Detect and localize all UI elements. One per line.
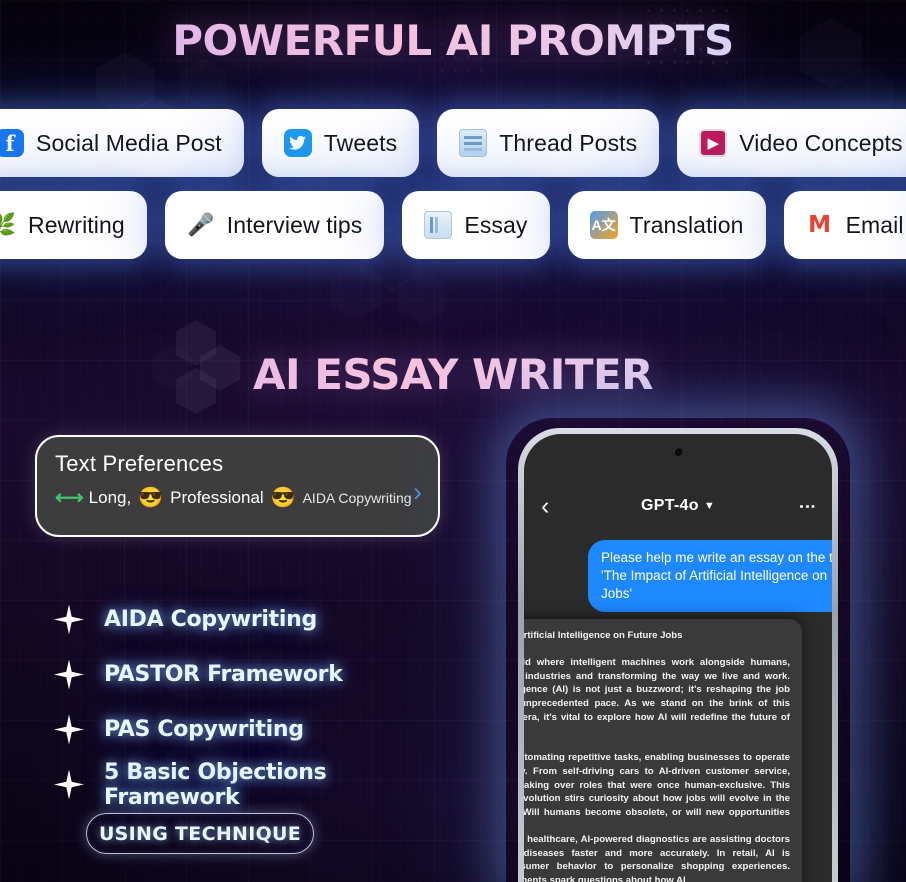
- sparkle-icon: [54, 770, 84, 800]
- chip-interview-tips[interactable]: 🎤 Interview tips: [165, 191, 385, 259]
- answer-paragraph-examples: For instance, in healthcare, AI-powered …: [524, 833, 790, 882]
- chip-thread-posts[interactable]: Thread Posts: [437, 109, 659, 177]
- sunglasses-smiley-icon: 😎: [138, 488, 163, 508]
- chip-label: Interview tips: [227, 212, 363, 239]
- chip-label: Email: [846, 212, 904, 239]
- chip-email[interactable]: M Email: [784, 191, 906, 259]
- preference-framework: AIDA Copywriting: [303, 490, 412, 506]
- gmail-icon: M: [806, 211, 834, 239]
- framework-feature-list: AIDA Copywriting PASTOR Framework PAS Co…: [54, 592, 454, 812]
- answer-section-interest: I: Interest: [524, 738, 790, 752]
- sparkle-icon: [54, 605, 84, 635]
- sparkle-icon: [54, 715, 84, 745]
- feature-label: PASTOR Framework: [104, 662, 343, 687]
- phone-mockup: ‹ GPT-4o▼ ⋮ Please help me write an essa…: [518, 428, 838, 882]
- page-title-middle: AI ESSAY WRITER: [0, 350, 906, 399]
- using-technique-button[interactable]: USING TECHNIQUE: [86, 813, 314, 854]
- chip-label: Translation: [630, 212, 744, 239]
- chip-essay[interactable]: Essay: [402, 191, 549, 259]
- chip-label: Tweets: [324, 130, 397, 157]
- twitter-bird-icon: [284, 129, 312, 157]
- chip-label: Social Media Post: [36, 130, 222, 157]
- prompt-category-row-1: f Social Media Post Tweets Thread Posts …: [0, 107, 906, 179]
- prompt-category-row-2: 🌿 Rewriting 🎤 Interview tips Essay A文 Tr…: [0, 189, 906, 261]
- sparkle-icon: [54, 660, 84, 690]
- chip-rewriting[interactable]: 🌿 Rewriting: [0, 191, 147, 259]
- text-preferences-title: Text Preferences: [55, 451, 420, 477]
- list-item[interactable]: 5 Basic Objections Framework: [54, 757, 454, 812]
- chip-tweets[interactable]: Tweets: [262, 109, 419, 177]
- rewrite-pen-icon: 🌿: [0, 211, 16, 239]
- chat-app-bar: ‹ GPT-4o▼ ⋮: [524, 491, 832, 521]
- text-preferences-card[interactable]: Text Preferences ⟷ Long, 😎 Professional …: [35, 435, 440, 537]
- chevron-down-icon: ▼: [704, 500, 715, 512]
- model-selector[interactable]: GPT-4o▼: [524, 497, 832, 515]
- chip-translation[interactable]: A文 Translation: [568, 191, 766, 259]
- page-title-top: POWERFUL AI PROMPTS: [0, 16, 906, 65]
- feature-label: 5 Basic Objections Framework: [104, 760, 454, 810]
- answer-title: The Impact of Artificial Intelligence on…: [524, 629, 790, 643]
- answer-paragraph-attention: Imagine a world where intelligent machin…: [524, 656, 790, 738]
- list-item[interactable]: AIDA Copywriting: [54, 592, 454, 647]
- sunglasses-smiley-icon-2: 😎: [271, 488, 296, 508]
- list-item[interactable]: PAS Copywriting: [54, 702, 454, 757]
- chip-video-concepts[interactable]: ▶ Video Concepts: [677, 109, 906, 177]
- thread-list-icon: [459, 129, 487, 157]
- essay-book-icon: [424, 211, 452, 239]
- feature-label: PAS Copywriting: [104, 717, 304, 742]
- chevron-right-icon[interactable]: ›: [413, 479, 422, 506]
- feature-label: AIDA Copywriting: [104, 607, 317, 632]
- user-message-bubble: Please help me write an essay on the top…: [588, 540, 832, 612]
- chip-social-media-post[interactable]: f Social Media Post: [0, 109, 244, 177]
- front-camera-icon: [674, 447, 683, 456]
- answer-paragraph-interest: AI is already automating repetitive task…: [524, 751, 790, 833]
- chip-label: Video Concepts: [739, 130, 902, 157]
- chip-label: Essay: [464, 212, 527, 239]
- video-film-icon: ▶: [699, 129, 727, 157]
- preference-tone: Professional: [170, 488, 264, 508]
- phone-screen: ‹ GPT-4o▼ ⋮ Please help me write an essa…: [524, 434, 832, 882]
- text-preferences-values: ⟷ Long, 😎 Professional 😎 AIDA Copywritin…: [55, 488, 420, 508]
- list-item[interactable]: PASTOR Framework: [54, 647, 454, 702]
- interview-person-icon: 🎤: [187, 211, 215, 239]
- chip-label: Rewriting: [28, 212, 125, 239]
- left-right-arrow-icon: ⟷: [55, 488, 82, 508]
- preference-length: Long,: [89, 488, 132, 508]
- answer-section-attention: A: Attention: [524, 643, 790, 657]
- three-dot-menu-icon[interactable]: ⋮: [801, 498, 812, 515]
- model-label: GPT-4o: [641, 497, 699, 514]
- facebook-icon: f: [0, 129, 24, 157]
- chip-label: Thread Posts: [499, 130, 637, 157]
- assistant-answer-card: The Impact of Artificial Intelligence on…: [524, 619, 802, 882]
- translation-icon: A文: [590, 211, 618, 239]
